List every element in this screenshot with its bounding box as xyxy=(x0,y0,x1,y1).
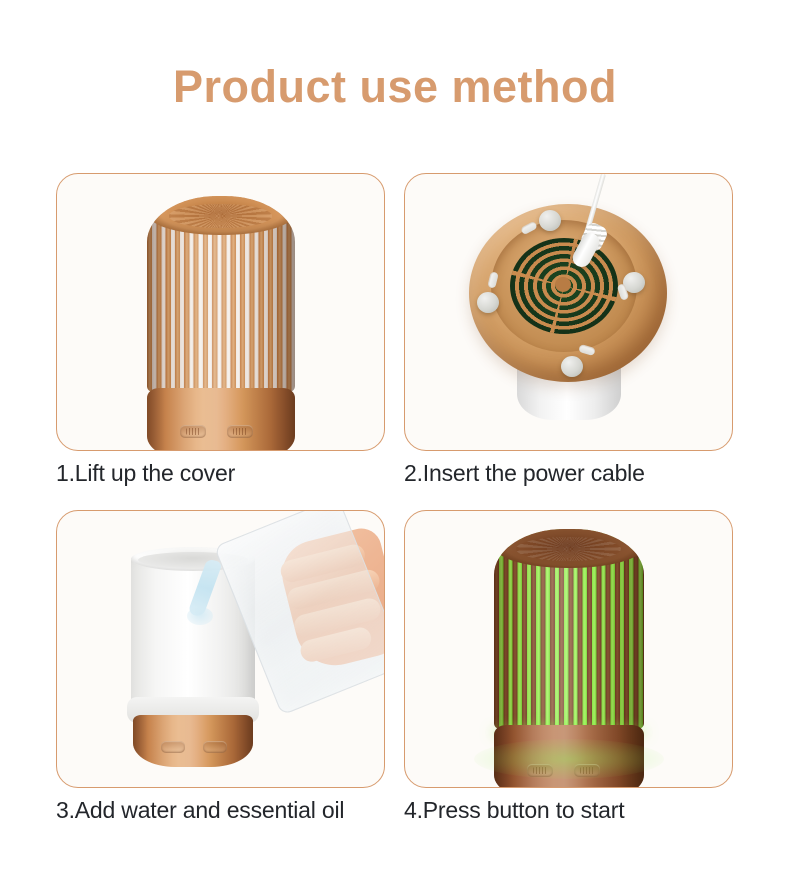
diffuser-topdown-illustration xyxy=(465,196,673,432)
page-title: Product use method xyxy=(0,64,790,109)
power-button-icon xyxy=(161,741,185,753)
diffuser-wood-base xyxy=(133,715,253,767)
power-button-icon xyxy=(527,764,553,777)
diffuser-wood-base xyxy=(147,388,295,451)
cover-top-vent xyxy=(149,196,293,235)
water-splash xyxy=(187,607,213,625)
cover-top-vent xyxy=(496,529,642,568)
step-caption-3: 3.Add water and essential oil xyxy=(56,797,385,824)
power-button-icon xyxy=(180,425,206,438)
fan-grille-icon xyxy=(510,238,618,334)
step-item-3: 3.Add water and essential oil xyxy=(56,510,385,824)
step-caption-1: 1.Lift up the cover xyxy=(56,460,385,487)
base-shading xyxy=(494,725,644,788)
light-button-icon xyxy=(574,764,600,777)
step-image-card-3 xyxy=(56,510,385,788)
pour-water-illustration xyxy=(57,511,385,788)
step-item-4: 4.Press button to start xyxy=(404,510,733,824)
rubber-peg xyxy=(561,356,583,377)
step-item-2: 2.Insert the power cable xyxy=(404,173,733,487)
step-image-card-4 xyxy=(404,510,733,788)
base-shading xyxy=(147,388,295,451)
diffuser-slatted-cover xyxy=(147,196,295,392)
diffuser-wood-base xyxy=(494,725,644,788)
step-caption-4: 4.Press button to start xyxy=(404,797,733,824)
rubber-peg xyxy=(539,210,561,231)
diffuser-illustration-on-green xyxy=(494,529,644,788)
diffuser-slatted-cover xyxy=(494,529,644,729)
base-shading xyxy=(133,715,253,767)
step-caption-2: 2.Insert the power cable xyxy=(404,460,733,487)
light-button-icon xyxy=(203,741,227,753)
step-item-1: 1.Lift up the cover xyxy=(56,173,385,487)
diffuser-illustration-off xyxy=(147,196,295,451)
light-button-icon xyxy=(227,425,253,438)
step-image-card-2 xyxy=(404,173,733,451)
step-image-card-1 xyxy=(56,173,385,451)
rubber-peg xyxy=(477,292,499,313)
